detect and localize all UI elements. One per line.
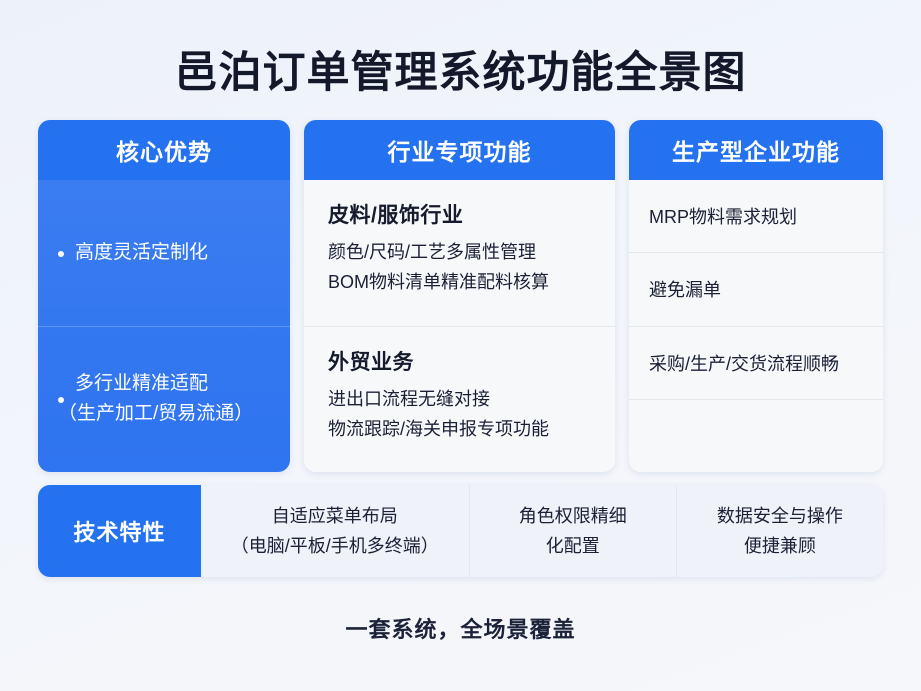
section-title: 皮料/服饰行业 [328,199,595,229]
card-body-core-advantages: 高度灵活定制化 多行业精准适配 （生产加工/贸易流通） [38,180,290,472]
list-item-label: 采购/生产/交货流程顺畅 [649,350,839,376]
tech-feature-item-role-permissions[interactable]: 角色权限精细 化配置 [469,485,676,577]
card-header-core-advantages: 核心优势 [38,120,290,180]
card-manufacturing-features: 生产型企业功能 MRP物料需求规划 避免漏单 采购/生产/交货流程顺畅 [629,120,883,472]
list-item[interactable]: MRP物料需求规划 [629,180,883,252]
list-item-empty [629,399,883,472]
section-line: 颜色/尺码/工艺多属性管理 [328,237,595,267]
page-title: 邑泊订单管理系统功能全景图 [0,38,921,100]
list-item-sub: （生产加工/贸易流通） [58,399,253,429]
list-item[interactable]: 多行业精准适配 （生产加工/贸易流通） [38,326,290,473]
list-item[interactable]: 高度灵活定制化 [38,180,290,326]
footer-tagline: 一套系统，全场景覆盖 [0,612,921,644]
section-leather-apparel[interactable]: 皮料/服饰行业 颜色/尺码/工艺多属性管理 BOM物料清单精准配料核算 [304,180,615,326]
list-item[interactable]: 避免漏单 [629,252,883,325]
list-item-label: 高度灵活定制化 [75,238,208,268]
section-title: 外贸业务 [328,346,595,376]
tech-feature-item-data-security[interactable]: 数据安全与操作 便捷兼顾 [676,485,883,577]
list-item[interactable]: 采购/生产/交货流程顺畅 [629,326,883,399]
card-header-industry-features: 行业专项功能 [304,120,615,180]
feature-columns: 核心优势 高度灵活定制化 多行业精准适配 （生产加工/贸易流通） 行业专项功能 [38,120,883,472]
section-foreign-trade[interactable]: 外贸业务 进出口流程无缝对接 物流跟踪/海关申报专项功能 [304,326,615,473]
tech-feature-item-adaptive-menu[interactable]: 自适应菜单布局 （电脑/平板/手机多终端） [201,485,469,577]
card-body-industry-features: 皮料/服饰行业 颜色/尺码/工艺多属性管理 BOM物料清单精准配料核算 外贸业务… [304,180,615,472]
list-item-label: 多行业精准适配 （生产加工/贸易流通） [75,339,253,459]
section-line: 进出口流程无缝对接 [328,384,595,414]
list-item-label: MRP物料需求规划 [649,203,797,229]
bullet-dot-icon [58,251,64,257]
section-line: 物流跟踪/海关申报专项功能 [328,414,595,444]
tech-features-bar: 技术特性 自适应菜单布局 （电脑/平板/手机多终端） 角色权限精细 化配置 数据… [38,485,883,577]
card-industry-features: 行业专项功能 皮料/服饰行业 颜色/尺码/工艺多属性管理 BOM物料清单精准配料… [304,120,615,472]
infographic-page: 邑泊订单管理系统功能全景图 核心优势 高度灵活定制化 多行业精准适配 （生产加工… [0,0,921,691]
section-line: BOM物料清单精准配料核算 [328,267,595,297]
list-item-main: 多行业精准适配 [75,373,208,394]
card-body-manufacturing-features: MRP物料需求规划 避免漏单 采购/生产/交货流程顺畅 [629,180,883,472]
tech-features-label: 技术特性 [38,485,201,577]
card-core-advantages: 核心优势 高度灵活定制化 多行业精准适配 （生产加工/贸易流通） [38,120,290,472]
card-header-manufacturing-features: 生产型企业功能 [629,120,883,180]
list-item-label: 避免漏单 [649,276,721,302]
